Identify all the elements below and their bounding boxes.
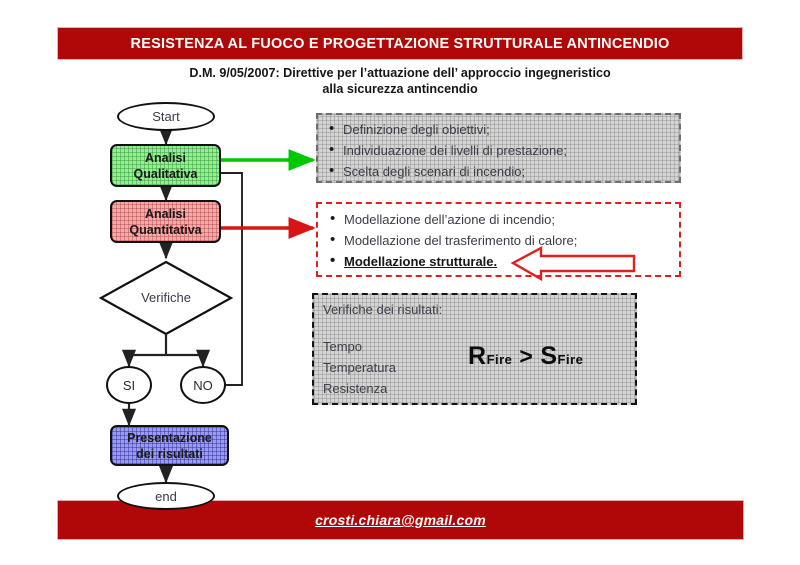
node-start[interactable]: Start [117,102,215,131]
node-qualitativa-line-2: Qualitativa [134,166,198,182]
list-item: Modellazione del trasferimento di calore… [327,230,670,251]
node-no[interactable]: NO [180,366,226,404]
flowchart-connectors [0,0,800,565]
list-item: Modellazione dell’azione di incendio; [327,209,670,230]
results-title: Verifiche dei risultati: [323,299,626,320]
formula-right-base: S [540,342,557,370]
slide-root: RESISTENZA AL FUOCO E PROGETTAZIONE STRU… [0,0,800,565]
panel-quantitative-steps: Modellazione dell’azione di incendio; Mo… [316,202,681,277]
node-no-label: NO [193,378,213,393]
node-start-label: Start [152,109,179,124]
quantitative-bullet-list: Modellazione dell’azione di incendio; Mo… [327,209,670,272]
formula-rfire-gt-sfire: RFire>SFire [468,342,583,371]
node-analisi-qualitativa[interactable]: Analisi Qualitativa [110,144,221,187]
node-end[interactable]: end [117,482,215,510]
node-quantitativa-line-1: Analisi [145,206,186,222]
formula-right-sub: Fire [558,352,584,367]
qualitative-bullet-list: Definizione degli obiettivi; Individuazi… [326,119,671,182]
node-presentazione-risultati[interactable]: Presentazione dei risultati [110,425,229,466]
node-si[interactable]: SI [106,366,152,404]
node-qualitativa-line-1: Analisi [145,150,186,166]
node-presentazione-line-2: dei risultati [136,446,203,462]
footer-email-link[interactable]: crosti.chiara@gmail.com [315,512,486,528]
panel-qualitative-steps: Definizione degli obiettivi; Individuazi… [316,113,681,183]
node-analisi-quantitativa[interactable]: Analisi Quantitativa [110,200,221,243]
list-item: Definizione degli obiettivi; [326,119,671,140]
node-end-label: end [155,489,177,504]
list-item-highlighted: Modellazione strutturale. [327,251,670,272]
node-quantitativa-line-2: Quantitativa [129,222,201,238]
formula-left-sub: Fire [487,352,513,367]
formula-left-base: R [468,342,487,370]
formula-operator: > [512,343,540,369]
node-presentazione-line-1: Presentazione [127,430,212,446]
node-si-label: SI [123,378,135,393]
list-item: Scelta degli scenari di incendio; [326,161,671,182]
criteria-resistenza: Resistenza [323,378,626,399]
node-verifiche-label: Verifiche [132,290,200,305]
list-item: Individuazione dei livelli di prestazion… [326,140,671,161]
